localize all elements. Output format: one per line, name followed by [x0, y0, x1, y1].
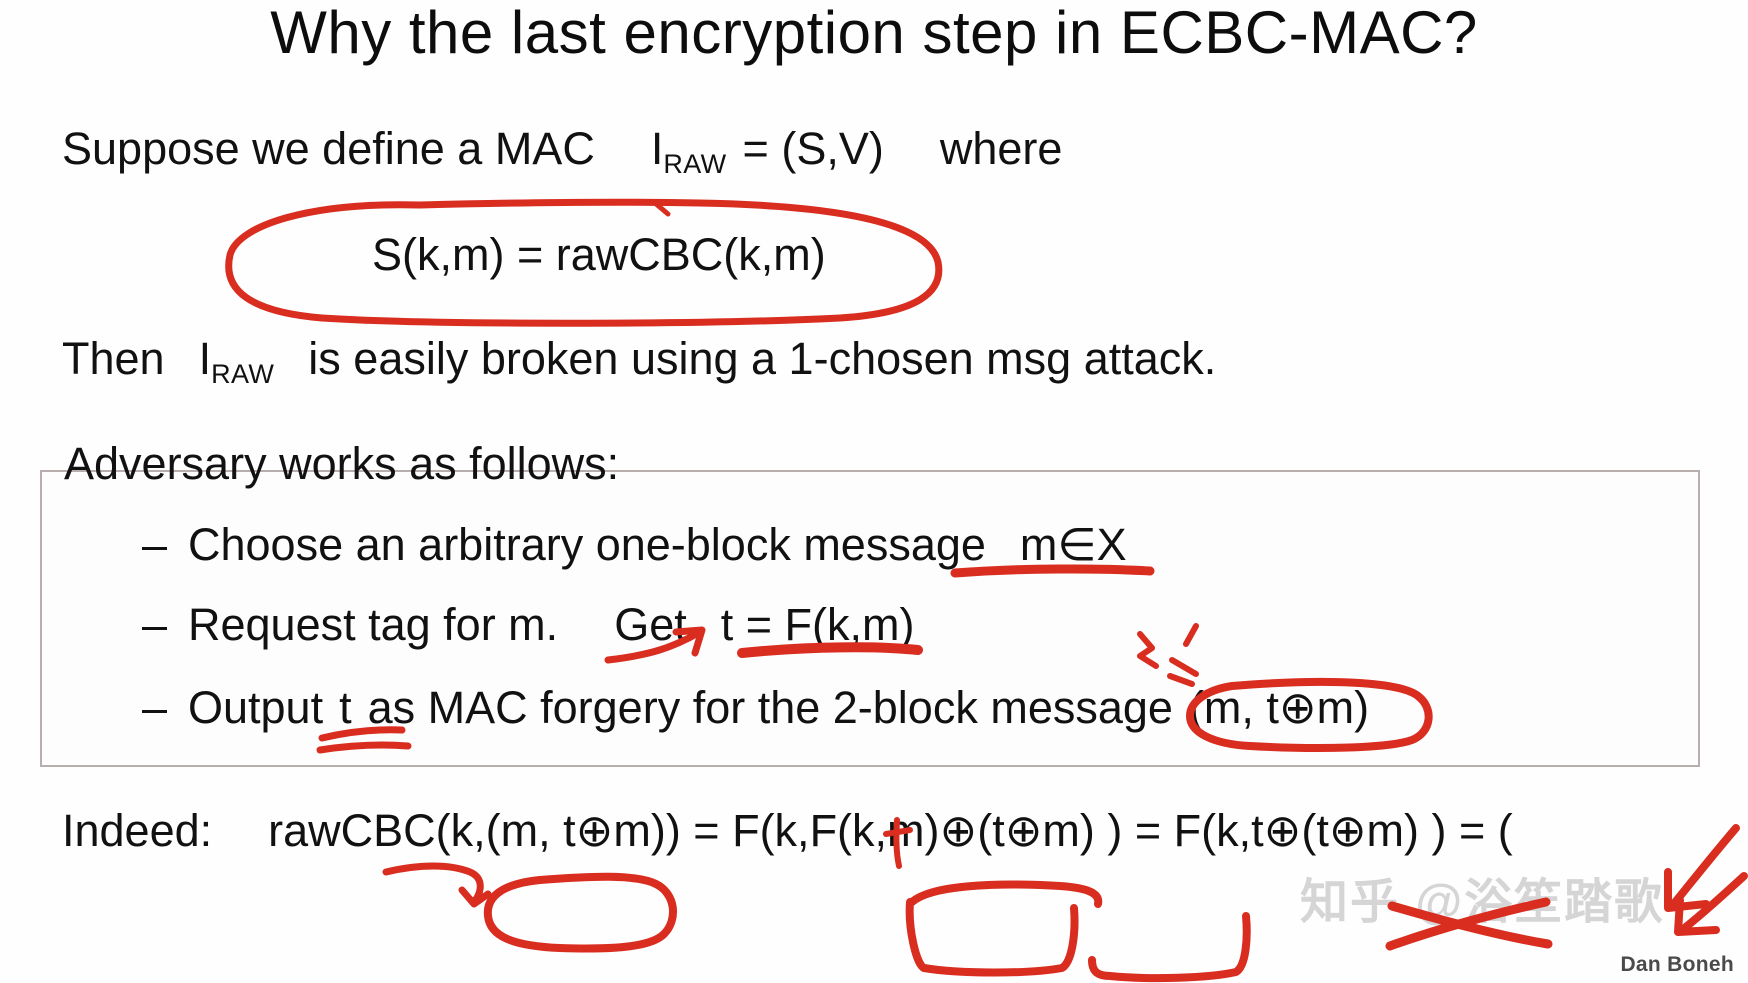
bullet-underlined-token: t	[339, 682, 352, 733]
then-prefix: Then	[62, 333, 165, 384]
red-double-arrow-head1-icon	[1668, 872, 1706, 908]
red-brace-under-t-xor-m-icon	[1092, 916, 1247, 978]
indeed-line: Indeed:rawCBC(k,(m, t⊕m)) = F(k,F(k,m)⊕(…	[62, 808, 1513, 853]
intro-line: Suppose we define a MACIRAW= (S,V)where	[62, 126, 1062, 171]
circled-formula: S(k,m) = rawCBC(k,m)	[372, 232, 826, 277]
red-ellipse-tick-icon	[655, 203, 668, 214]
list-item: –Choose an arbitrary one-block messagem∈…	[142, 518, 1127, 571]
intro-suffix: where	[940, 123, 1063, 174]
red-circle-indeed-icon	[488, 877, 673, 949]
author-credit: Dan Boneh	[1620, 953, 1734, 977]
red-brace-under-F-k-m-icon	[910, 902, 1075, 973]
bullet-highlight: m∈X	[1020, 519, 1127, 570]
indeed-part3: ) = F(k,	[1095, 805, 1251, 856]
bullet-pre: Output	[188, 682, 323, 733]
bullet-marker: –	[142, 599, 188, 651]
then-line: ThenIRAWis easily broken using a 1-chose…	[62, 336, 1216, 381]
list-item: –Request tag for m.Gett = F(k,m)	[142, 599, 914, 651]
red-arrow-to-k-head-icon	[462, 890, 488, 904]
bullet-marker: –	[142, 519, 188, 571]
list-item: –Outputtas MAC forgery for the 2-block m…	[142, 681, 1369, 734]
indeed-boxed-term: F(k,m)	[810, 805, 940, 856]
red-arrow-to-k-icon	[386, 866, 480, 902]
bullet-text: Request tag for m.	[188, 599, 558, 650]
indeed-circled-term: (m, t⊕m)	[486, 805, 666, 856]
zhihu-watermark: 知乎 @浴笙踏歌	[1300, 862, 1664, 932]
then-suffix: is easily broken using a 1-chosen msg at…	[308, 333, 1216, 384]
indeed-xor: ⊕	[940, 805, 978, 856]
intro-symbol-base: I	[651, 123, 664, 174]
bullet-highlight: t = F(k,m)	[721, 599, 915, 650]
red-brace-over-F-k-m-icon	[912, 885, 1098, 904]
bullet-mid: Get	[614, 599, 687, 650]
indeed-tail: t⊕(t⊕m) ) = (	[1251, 805, 1513, 856]
red-double-arrow-head2-icon	[1678, 900, 1716, 932]
indeed-label: Indeed:	[62, 805, 212, 856]
indeed-part2: ) = F(k,	[666, 805, 810, 856]
red-double-arrow-stroke2-icon	[1682, 876, 1744, 930]
red-double-arrow-stroke1-icon	[1672, 828, 1736, 906]
red-strikethrough-tail-2-icon	[1392, 906, 1548, 944]
bullet-text: Choose an arbitrary one-block message	[188, 519, 986, 570]
bullet-marker: –	[142, 682, 188, 734]
page-title: Why the last encryption step in ECBC-MAC…	[0, 0, 1748, 67]
bullet-text: as MAC forgery for the 2-block message	[368, 682, 1173, 733]
then-symbol-subscript: RAW	[211, 359, 274, 389]
red-strikethrough-tail-icon	[1390, 902, 1546, 946]
slide-canvas: Why the last encryption step in ECBC-MAC…	[0, 0, 1748, 983]
indeed-part1: rawCBC(k,	[268, 805, 486, 856]
bullet-highlight: (m, t⊕m)	[1189, 682, 1369, 733]
then-symbol-base: I	[199, 333, 212, 384]
intro-prefix: Suppose we define a MAC	[62, 123, 595, 174]
intro-equals: = (S,V)	[743, 123, 884, 174]
intro-symbol-subscript: RAW	[663, 149, 726, 179]
adversary-heading: Adversary works as follows:	[64, 438, 619, 490]
indeed-braced-term: (t⊕m)	[977, 805, 1095, 856]
